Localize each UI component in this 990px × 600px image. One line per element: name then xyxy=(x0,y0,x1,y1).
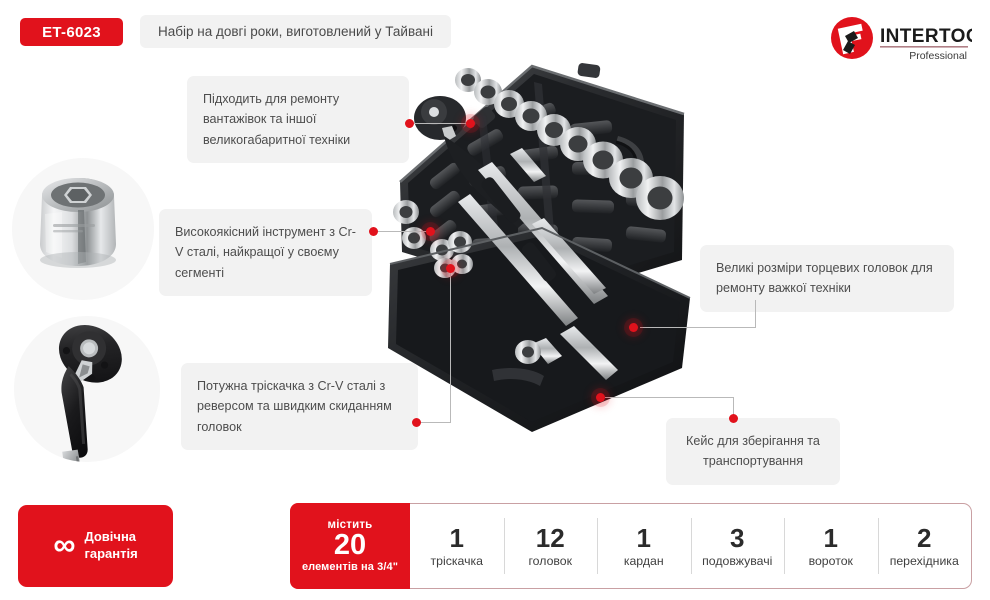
callout-text: Кейс для зберігання та транспортування xyxy=(686,434,820,468)
stat-number: 1 xyxy=(637,525,651,551)
connector-dot-1-start xyxy=(405,119,414,128)
callout-text: Високоякісний інструмент з Cr-V сталі, н… xyxy=(175,225,356,280)
warranty-line-2: гарантія xyxy=(84,546,137,561)
connector-line-4-vertical xyxy=(755,300,756,328)
stat-label: вороток xyxy=(809,554,853,568)
socket-closeup-image xyxy=(12,158,154,300)
logo-subtext: Professional xyxy=(909,50,967,62)
stat-item-sockets: 12 головок xyxy=(504,504,598,588)
stats-lead-badge: містить 20 елементів на 3/4" xyxy=(290,503,410,589)
callout-text: Великі розміри торцевих головок для ремо… xyxy=(716,261,933,295)
connector-dot-1-end xyxy=(466,119,475,128)
warranty-badge: ∞ Довічна гарантія xyxy=(18,505,173,587)
stat-number: 1 xyxy=(824,525,838,551)
connector-line-5-horizontal xyxy=(605,397,734,398)
connector-line-4-horizontal xyxy=(640,327,756,328)
connector-dot-2-end xyxy=(426,227,435,236)
infinity-icon: ∞ xyxy=(53,529,75,560)
sku-label: ET-6023 xyxy=(42,24,101,41)
connector-dot-5-end xyxy=(729,414,738,423)
logo-mark-icon xyxy=(831,17,873,59)
stat-label: головок xyxy=(528,554,572,568)
connector-dot-2-start xyxy=(369,227,378,236)
stat-label: кардан xyxy=(624,554,664,568)
stat-item-universal-joint: 1 кардан xyxy=(597,504,691,588)
connector-line-3-vertical xyxy=(450,272,451,423)
connector-line-2 xyxy=(377,231,431,232)
stats-lead-bottom: елементів на 3/4" xyxy=(302,561,398,573)
warranty-text: Довічна гарантія xyxy=(84,529,137,562)
callout-large-sockets: Великі розміри торцевих головок для ремо… xyxy=(700,245,954,312)
logo-wordmark: INTERTOOL xyxy=(880,26,972,47)
ratchet-closeup-image xyxy=(14,316,160,462)
connector-dot-3-end xyxy=(446,264,455,273)
sku-badge: ET-6023 xyxy=(20,18,123,46)
contents-stats-bar: містить 20 елементів на 3/4" 1 тріскачка… xyxy=(290,503,972,589)
stat-label: подовжувачі xyxy=(702,554,772,568)
stat-label: перехідника xyxy=(890,554,959,568)
callout-crv-steel: Високоякісний інструмент з Cr-V сталі, н… xyxy=(159,209,372,296)
stat-label: тріскачка xyxy=(431,554,483,568)
tagline-chip: Набір на довгі роки, виготовлений у Тайв… xyxy=(140,15,451,48)
callout-text: Потужна тріскачка з Cr-V сталі з реверсо… xyxy=(197,379,392,434)
stat-number: 1 xyxy=(450,525,464,551)
callout-truck-repair: Підходить для ремонту вантажівок та іншо… xyxy=(187,76,409,163)
stats-lead-number: 20 xyxy=(334,531,366,561)
stat-number: 12 xyxy=(536,525,565,551)
tagline-text: Набір на довгі роки, виготовлений у Тайв… xyxy=(158,24,433,39)
stat-item-breaker-bar: 1 вороток xyxy=(784,504,878,588)
callout-storage-case: Кейс для зберігання та транспортування xyxy=(666,418,840,485)
callout-text: Підходить для ремонту вантажівок та іншо… xyxy=(203,92,350,147)
connector-line-3-horizontal xyxy=(420,422,451,423)
stat-number: 2 xyxy=(917,525,931,551)
infographic-canvas: ET-6023 Набір на довгі роки, виготовлени… xyxy=(0,0,990,600)
callout-ratchet: Потужна тріскачка з Cr-V сталі з реверсо… xyxy=(181,363,418,450)
connector-dot-5-start xyxy=(596,393,605,402)
product-image-tool-case xyxy=(382,52,702,442)
stat-item-adapters: 2 перехідника xyxy=(878,504,972,588)
intertool-logo: INTERTOOL Professional xyxy=(824,14,972,66)
stat-number: 3 xyxy=(730,525,744,551)
connector-dot-4-end xyxy=(629,323,638,332)
stat-item-extensions: 3 подовжувачі xyxy=(691,504,785,588)
warranty-line-1: Довічна xyxy=(84,529,136,544)
connector-line-1 xyxy=(413,123,471,124)
connector-dot-3-start xyxy=(412,418,421,427)
stat-item-ratchet: 1 тріскачка xyxy=(410,504,504,588)
